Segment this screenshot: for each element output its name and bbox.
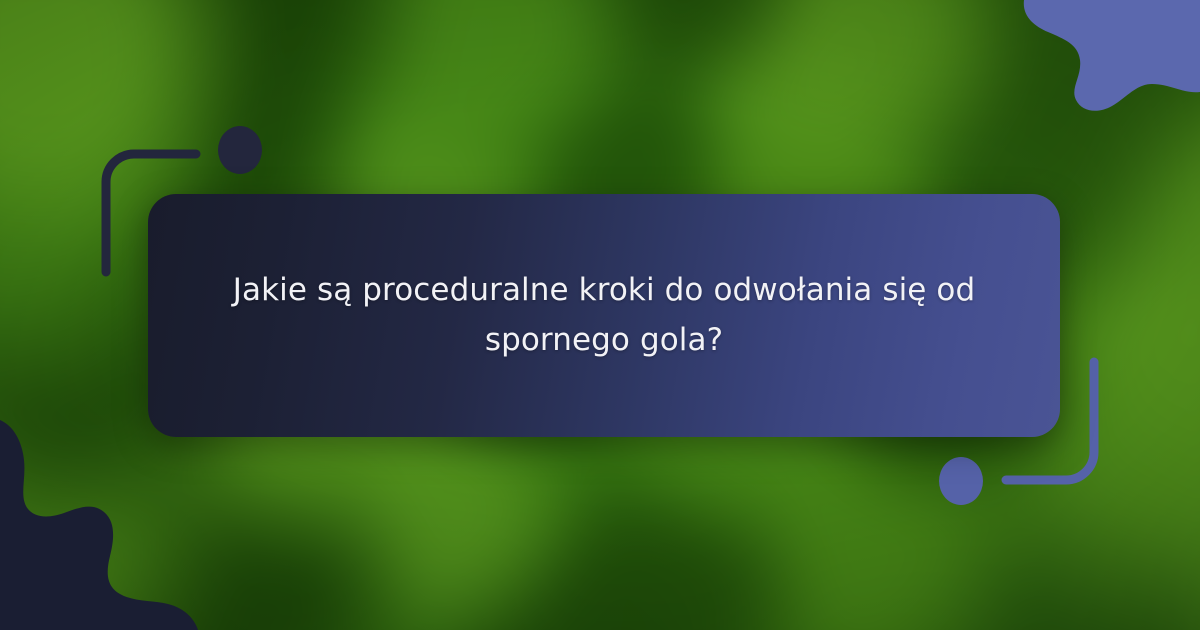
social-card-canvas: Jakie są proceduralne kroki do odwołania… — [0, 0, 1200, 630]
question-text: Jakie są proceduralne kroki do odwołania… — [210, 266, 998, 365]
question-card: Jakie są proceduralne kroki do odwołania… — [148, 194, 1060, 437]
